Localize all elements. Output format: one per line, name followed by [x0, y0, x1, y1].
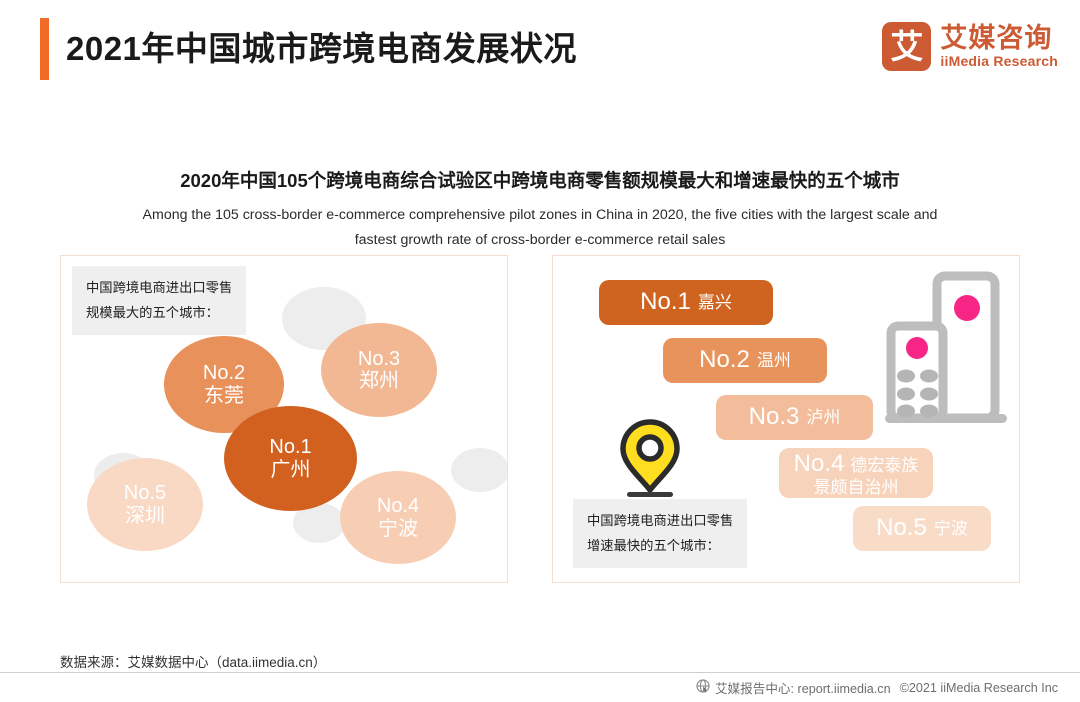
chart-title-en-line2: fastest growth rate of cross-border e-co… [70, 228, 1010, 253]
logo-text: 艾媒咨询 iiMedia Research [940, 23, 1058, 69]
bubble-rank-3[interactable]: No.3 郑州 [321, 323, 437, 417]
footer-copyright: ©2021 iiMedia Research Inc [900, 681, 1058, 695]
caption-fastest-growth: 中国跨境电商进出口零售 增速最快的五个城市： [573, 499, 747, 568]
panel-largest-scale: 中国跨境电商进出口零售 规模最大的五个城市： No.5 深圳 No.2 东莞 N… [60, 255, 508, 583]
logo-mark-icon: 艾 [882, 22, 931, 71]
pill-rank-1[interactable]: No.1 嘉兴 [599, 280, 773, 325]
source-note: 数据来源：艾媒数据中心（data.iimedia.cn） [60, 651, 326, 671]
footer-report-label: 艾媒报告中心: report.iimedia.cn [715, 678, 891, 697]
chart-title-en-line1: Among the 105 cross-border e-commerce co… [70, 203, 1010, 228]
caption-line-2: 规模最大的五个城市： [86, 300, 232, 325]
bubble-city-label: 东莞 [204, 385, 244, 407]
pill-city-label: 嘉兴 [698, 292, 732, 313]
bubble-rank-label: No.1 [269, 436, 311, 458]
bubble-rank-label: No.3 [358, 348, 400, 370]
pill-rank-3[interactable]: No.3 泸州 [716, 395, 873, 440]
caption-line-1: 中国跨境电商进出口零售 [86, 275, 232, 300]
chart-title-en: Among the 105 cross-border e-commerce co… [70, 203, 1010, 253]
caption-line-1: 中国跨境电商进出口零售 [587, 508, 733, 533]
caption-largest-scale: 中国跨境电商进出口零售 规模最大的五个城市： [72, 266, 246, 335]
bubble-rank-label: No.5 [124, 482, 166, 504]
decorative-circle [451, 448, 508, 492]
pill-city-label-line2: 景颇自治州 [814, 477, 899, 498]
iimedia-logo: 艾 艾媒咨询 iiMedia Research [882, 18, 1058, 74]
bubble-rank-5[interactable]: No.5 深圳 [87, 458, 203, 551]
pill-city-label: 德宏泰族 [850, 455, 918, 476]
page-title: 2021年中国城市跨境电商发展状况 [66, 22, 577, 70]
pill-rank-4-line1: No.4 德宏泰族 [794, 451, 919, 477]
pill-rank-4[interactable]: No.4 德宏泰族 景颇自治州 [779, 448, 933, 498]
title-accent-bar [40, 18, 49, 80]
pill-rank-label: No.1 [640, 289, 691, 315]
bubble-city-label: 宁波 [378, 518, 418, 540]
pill-city-label: 温州 [757, 350, 791, 371]
chart-heading: 2020年中国105个跨境电商综合试验区中跨境电商零售额规模最大和增速最快的五个… [70, 168, 1010, 253]
pill-rank-label: No.3 [749, 404, 800, 430]
bubble-rank-label: No.4 [377, 495, 419, 517]
bubble-rank-4[interactable]: No.4 宁波 [340, 471, 456, 564]
pill-rank-5[interactable]: No.5 宁波 [853, 506, 991, 551]
panel-fastest-growth: 中国跨境电商进出口零售 增速最快的五个城市： No.1 嘉兴 No.2 温州 N… [552, 255, 1020, 583]
pill-rank-label: No.5 [876, 515, 927, 541]
bubble-rank-1[interactable]: No.1 广州 [224, 406, 357, 511]
pill-rank-2[interactable]: No.2 温州 [663, 338, 827, 383]
chart-title-cn: 2020年中国105个跨境电商综合试验区中跨境电商零售额规模最大和增速最快的五个… [70, 168, 1010, 194]
map-pin-icon [615, 416, 685, 503]
pill-rank-label: No.2 [699, 347, 750, 373]
footer-report-center: 艾媒报告中心: report.iimedia.cn [696, 678, 891, 697]
pill-rank-label: No.4 [794, 451, 845, 477]
page-footer: 艾媒报告中心: report.iimedia.cn ©2021 iiMedia … [0, 673, 1080, 702]
logo-name-cn: 艾媒咨询 [940, 23, 1058, 53]
bubble-city-label: 广州 [271, 459, 311, 481]
bubble-city-label: 深圳 [125, 505, 165, 527]
bubble-city-label: 郑州 [359, 370, 399, 392]
caption-line-2: 增速最快的五个城市： [587, 533, 733, 558]
logo-name-en: iiMedia Research [940, 53, 1058, 69]
bubble-rank-label: No.2 [203, 362, 245, 384]
globe-icon [696, 679, 710, 696]
page-header: 2021年中国城市跨境电商发展状况 艾 艾媒咨询 iiMedia Researc… [0, 0, 1080, 92]
pill-city-label: 泸州 [806, 407, 840, 428]
pill-city-label: 宁波 [934, 518, 968, 539]
buildings-icon [879, 264, 1019, 439]
